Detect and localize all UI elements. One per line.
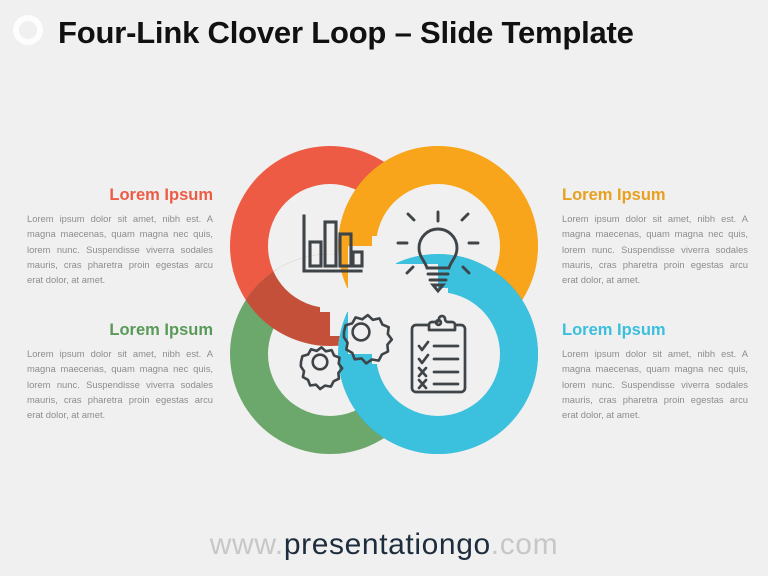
footer-brand-name: presentationgo xyxy=(284,528,491,561)
block-body-top-right: Lorem ipsum dolor sit amet, nibh est. A … xyxy=(562,211,748,287)
clover-loop-diagram xyxy=(222,138,546,462)
block-heading-top-left: Lorem Ipsum xyxy=(27,186,213,204)
footer-www-prefix: www. xyxy=(210,528,284,561)
footer-website-url: www.presentationgo.com xyxy=(0,528,768,562)
text-block-bottom-right: Lorem Ipsum Lorem ipsum dolor sit amet, … xyxy=(562,321,748,422)
footer-com-suffix: .com xyxy=(491,528,558,561)
block-body-bottom-right: Lorem ipsum dolor sit amet, nibh est. A … xyxy=(562,346,748,422)
block-heading-top-right: Lorem Ipsum xyxy=(562,186,748,204)
slide-title: Four-Link Clover Loop – Slide Template xyxy=(58,14,658,53)
block-body-top-left: Lorem ipsum dolor sit amet, nibh est. A … xyxy=(27,211,213,287)
block-heading-bottom-right: Lorem Ipsum xyxy=(562,321,748,339)
text-block-top-left: Lorem Ipsum Lorem ipsum dolor sit amet, … xyxy=(27,186,213,287)
block-heading-bottom-left: Lorem Ipsum xyxy=(27,321,213,339)
text-block-top-right: Lorem Ipsum Lorem ipsum dolor sit amet, … xyxy=(562,186,748,287)
presentationgo-watermark-logo xyxy=(0,8,62,52)
text-block-bottom-left: Lorem Ipsum Lorem ipsum dolor sit amet, … xyxy=(27,321,213,422)
block-body-bottom-left: Lorem ipsum dolor sit amet, nibh est. A … xyxy=(27,346,213,422)
